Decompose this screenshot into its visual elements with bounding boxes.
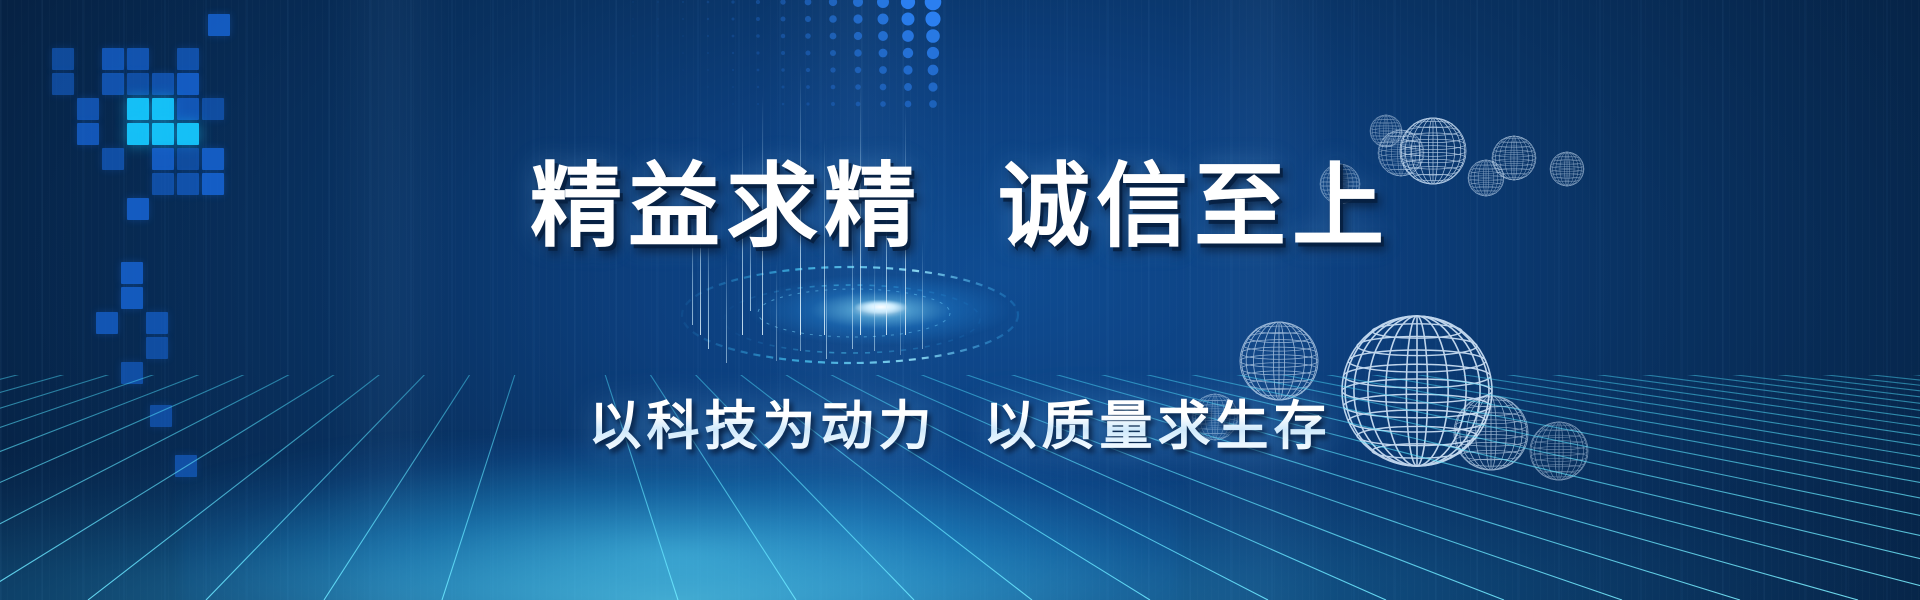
mosaic-pixel: [52, 48, 74, 70]
mosaic-pixel: [102, 48, 124, 70]
hero-banner: 精益求精 诚信至上 以科技为动力 以质量求生存: [0, 0, 1920, 600]
mosaic-pixel: [152, 73, 174, 95]
mosaic-pixel: [52, 73, 74, 95]
mosaic-pixel: [177, 73, 199, 95]
mosaic-pixel: [102, 73, 124, 95]
mosaic-pixel: [127, 48, 149, 70]
mosaic-pixel: [177, 48, 199, 70]
page-title: 精益求精 诚信至上: [530, 158, 1390, 255]
headline-block: 精益求精 诚信至上: [0, 96, 1920, 316]
mosaic-pixel: [208, 14, 230, 36]
mosaic-pixel: [127, 73, 149, 95]
subheadline-block: 以科技为动力 以质量求生存: [0, 340, 1920, 504]
page-subtitle: 以科技为动力 以质量求生存: [589, 384, 1332, 460]
